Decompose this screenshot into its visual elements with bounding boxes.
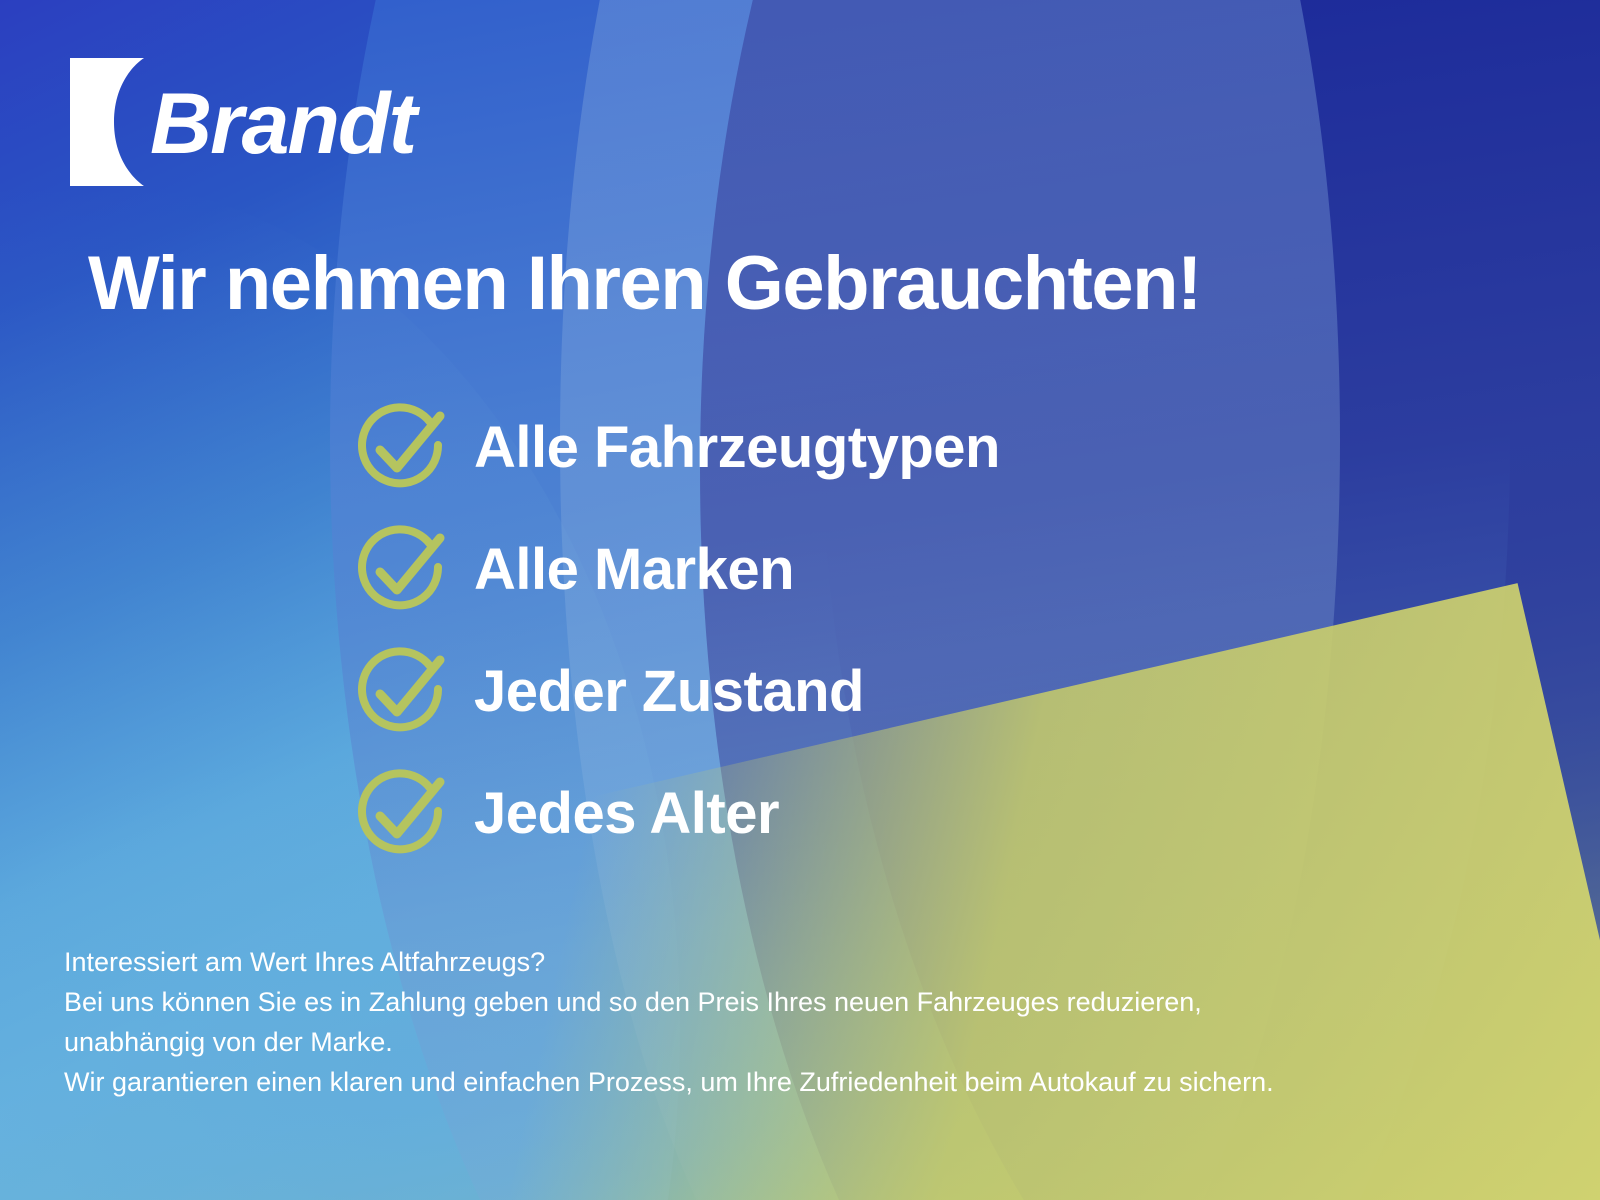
check-circle-icon	[352, 398, 452, 498]
footer-line-4: Wir garantieren einen klaren und einfach…	[64, 1062, 1484, 1102]
content-layer: Brandt Wir nehmen Ihren Gebrauchten! All…	[0, 0, 1600, 1200]
brand-logo: Brandt	[70, 58, 415, 186]
page-title: Wir nehmen Ihren Gebrauchten!	[88, 243, 1201, 325]
list-item: Alle Marken	[352, 520, 1000, 620]
footer-paragraph: Interessiert am Wert Ihres Altfahrzeugs?…	[64, 942, 1484, 1102]
feature-list: Alle Fahrzeugtypen Alle Marken Jeder Zus…	[352, 398, 1000, 864]
brand-name: Brandt	[150, 81, 415, 167]
feature-label: Alle Fahrzeugtypen	[474, 419, 1000, 477]
list-item: Jedes Alter	[352, 764, 1000, 864]
feature-label: Jedes Alter	[474, 785, 779, 843]
promotional-banner: Brandt Wir nehmen Ihren Gebrauchten! All…	[0, 0, 1600, 1200]
list-item: Jeder Zustand	[352, 642, 1000, 742]
footer-line-1: Interessiert am Wert Ihres Altfahrzeugs?	[64, 942, 1484, 982]
check-circle-icon	[352, 642, 452, 742]
bracket-crescent-icon	[70, 58, 144, 186]
feature-label: Alle Marken	[474, 541, 794, 599]
list-item: Alle Fahrzeugtypen	[352, 398, 1000, 498]
footer-line-3: unabhängig von der Marke.	[64, 1022, 1484, 1062]
feature-label: Jeder Zustand	[474, 663, 864, 721]
check-circle-icon	[352, 520, 452, 620]
check-circle-icon	[352, 764, 452, 864]
footer-line-2: Bei uns können Sie es in Zahlung geben u…	[64, 982, 1484, 1022]
